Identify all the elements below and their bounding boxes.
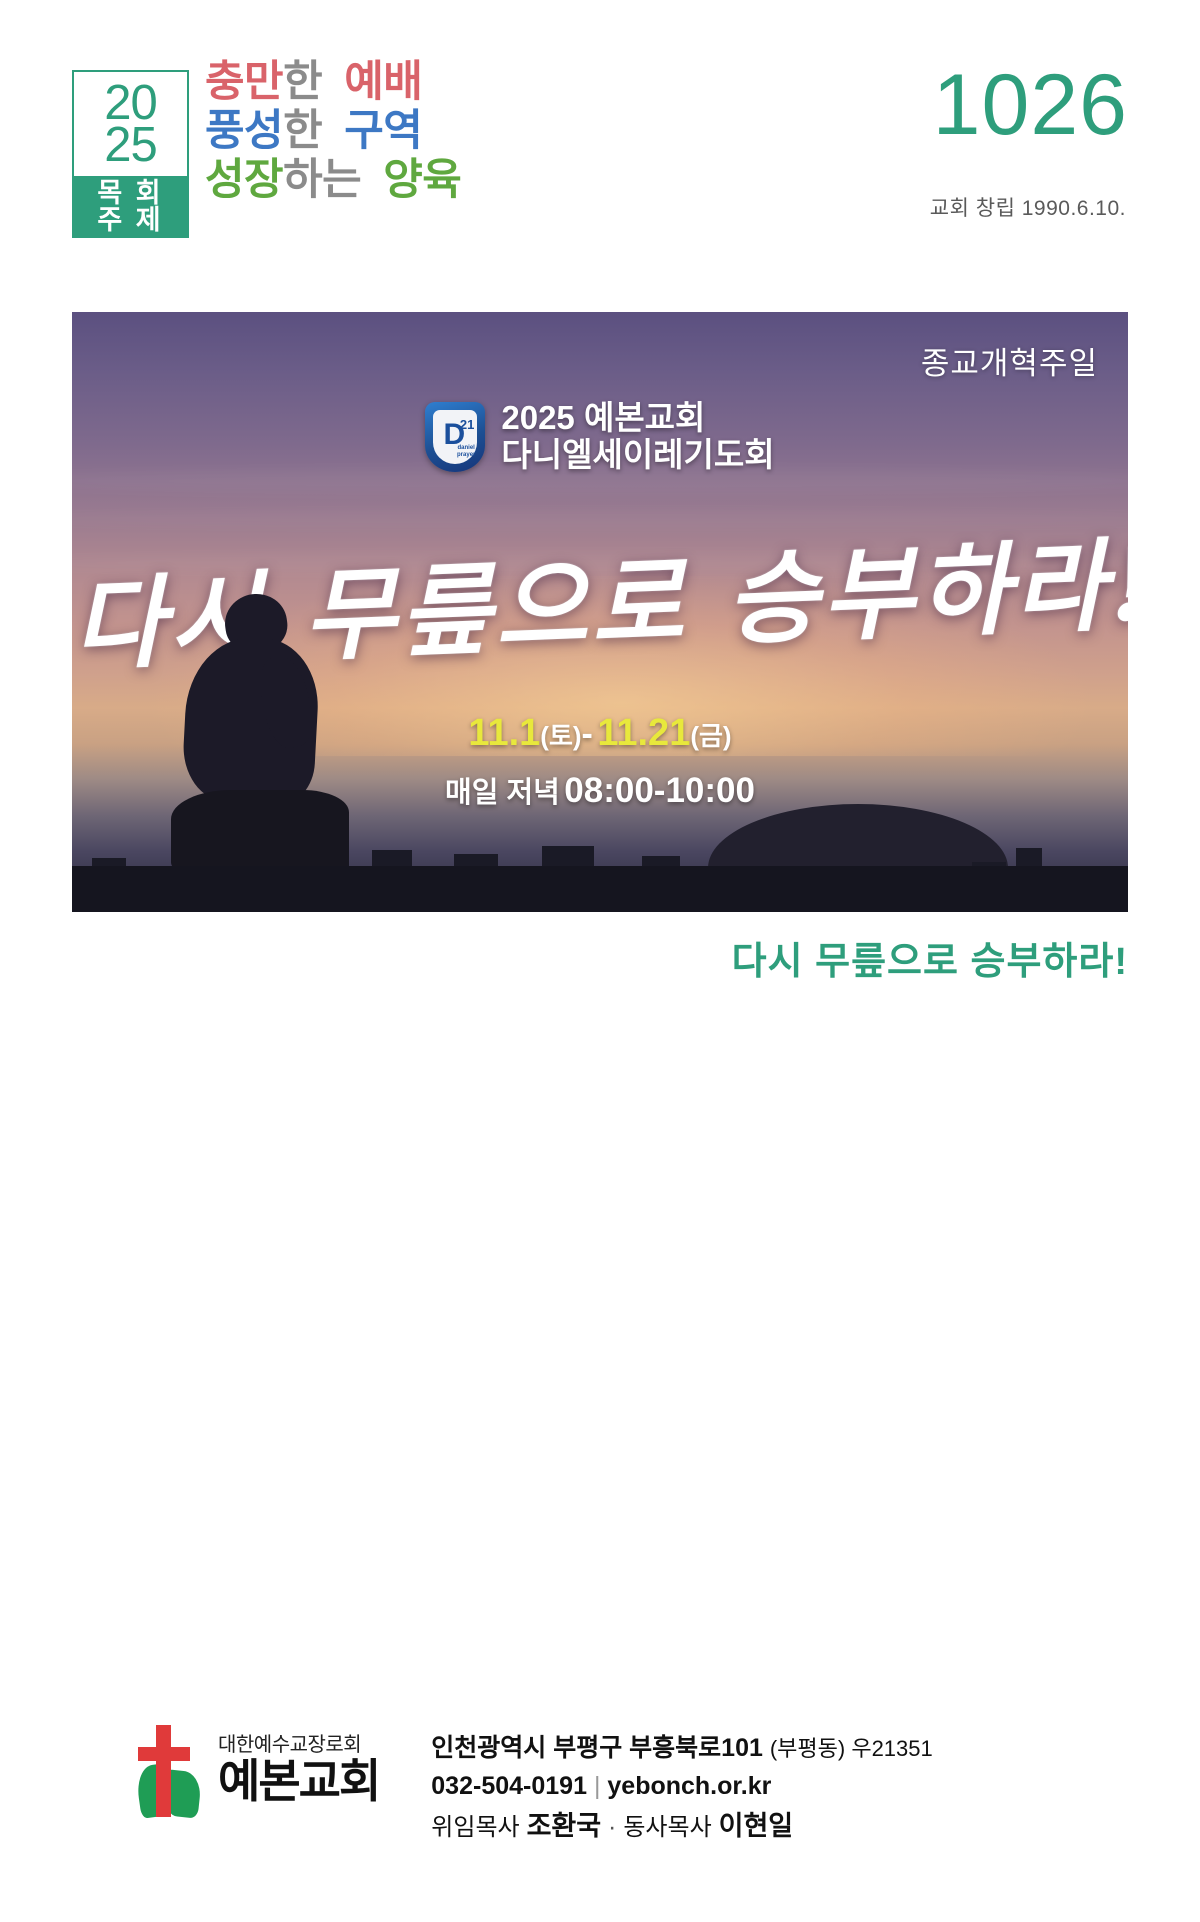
theme-3-object: 양육	[383, 156, 461, 204]
cross-leaf-icon	[130, 1725, 208, 1817]
theme-row-1: 충만한예배	[205, 58, 461, 107]
pastors-line: 위임목사 조환국 · 동사목사 이현일	[431, 1806, 932, 1848]
header: 20 25 목 회 주 제 충만한예배 풍성한구역 성장하는양육 1026 교회…	[0, 0, 1200, 300]
phone-web-line: 032-504-0191 | yebonch.or.kr	[431, 1767, 932, 1806]
date-end: 11.21	[597, 712, 690, 754]
event-poster: 종교개혁주일 D 21 danielprayer 2025 예본교회 다니엘세이…	[72, 312, 1128, 912]
year-bottom: 25	[104, 125, 157, 165]
phone-number[interactable]: 032-504-0191	[431, 1772, 587, 1800]
church-founding-date: 교회 창립 1990.6.10.	[930, 192, 1126, 222]
theme-2-object: 구역	[344, 107, 422, 155]
date-end-day: (금)	[690, 721, 731, 751]
address-main: 인천광역시 부평구 부흥북로101	[431, 1734, 763, 1762]
associate-pastor-name: 이현일	[719, 1811, 794, 1841]
bulletin-page: 20 25 목 회 주 제 충만한예배 풍성한구역 성장하는양육 1026 교회…	[0, 0, 1200, 1922]
theme-3-bold: 성장	[205, 156, 283, 204]
church-logo: 대한예수교장로회 예본교회	[130, 1725, 379, 1817]
shield-inner: D 21 danielprayer	[433, 410, 477, 464]
subject-line-2: 주 제	[97, 207, 163, 234]
website-link[interactable]: yebonch.or.kr	[607, 1772, 771, 1800]
address-line: 인천광역시 부평구 부흥북로101 (부평동) 우21351	[431, 1729, 932, 1768]
theme-row-3: 성장하는양육	[205, 156, 461, 205]
footer: 대한예수교장로회 예본교회 인천광역시 부평구 부흥북로101 (부평동) 우2…	[0, 1725, 1200, 1848]
church-name: 예본교회	[218, 1756, 379, 1807]
year-theme-badge: 20 25 목 회 주 제	[72, 70, 189, 238]
theme-1-object: 예배	[344, 58, 422, 106]
year-box: 20 25	[72, 70, 189, 178]
pastoral-theme: 충만한예배 풍성한구역 성장하는양육	[205, 58, 461, 205]
church-name-block: 대한예수교장로회 예본교회	[218, 1734, 379, 1807]
date-dash: -	[582, 715, 593, 753]
issue-number: 1026	[933, 62, 1128, 148]
poster-title-block: 2025 예본교회 다니엘세이레기도회	[501, 400, 774, 474]
poster-subtitle: 다시 무릎으로 승부하라!	[732, 930, 1128, 985]
address-sub: (부평동) 우21351	[770, 1736, 933, 1761]
contact-block: 인천광역시 부평구 부흥북로101 (부평동) 우21351 032-504-0…	[431, 1725, 932, 1848]
theme-3-suffix: 하는	[283, 156, 361, 204]
poster-title-row: D 21 danielprayer 2025 예본교회 다니엘세이레기도회	[72, 400, 1128, 474]
role-senior-pastor: 위임목사	[431, 1814, 519, 1841]
separator-dot: ·	[608, 1813, 616, 1841]
subject-box: 목 회 주 제	[72, 178, 189, 238]
theme-1-bold: 충만	[205, 58, 283, 106]
theme-2-suffix: 한	[283, 107, 322, 155]
theme-1-suffix: 한	[283, 58, 322, 106]
divider: |	[594, 1772, 601, 1800]
poster-title-line-1: 2025 예본교회	[501, 400, 774, 437]
shield-number: 21	[460, 417, 474, 432]
role-associate-pastor: 동사목사	[623, 1814, 711, 1841]
poster-title-line-2: 다니엘세이레기도회	[501, 437, 774, 474]
subject-line-1: 목 회	[97, 180, 163, 207]
daniel-prayer-shield-icon: D 21 danielprayer	[425, 402, 485, 472]
shield-subtext: danielprayer	[457, 445, 475, 458]
senior-pastor-name: 조환국	[527, 1811, 602, 1841]
occasion-label: 종교개혁주일	[921, 338, 1098, 383]
denomination: 대한예수교장로회	[218, 1734, 379, 1756]
date-start-day: (토)	[540, 721, 581, 751]
city-skyline-silhouette	[72, 802, 1128, 912]
date-start: 11.1	[468, 712, 540, 754]
theme-row-2: 풍성한구역	[205, 107, 461, 156]
theme-2-bold: 풍성	[205, 107, 283, 155]
